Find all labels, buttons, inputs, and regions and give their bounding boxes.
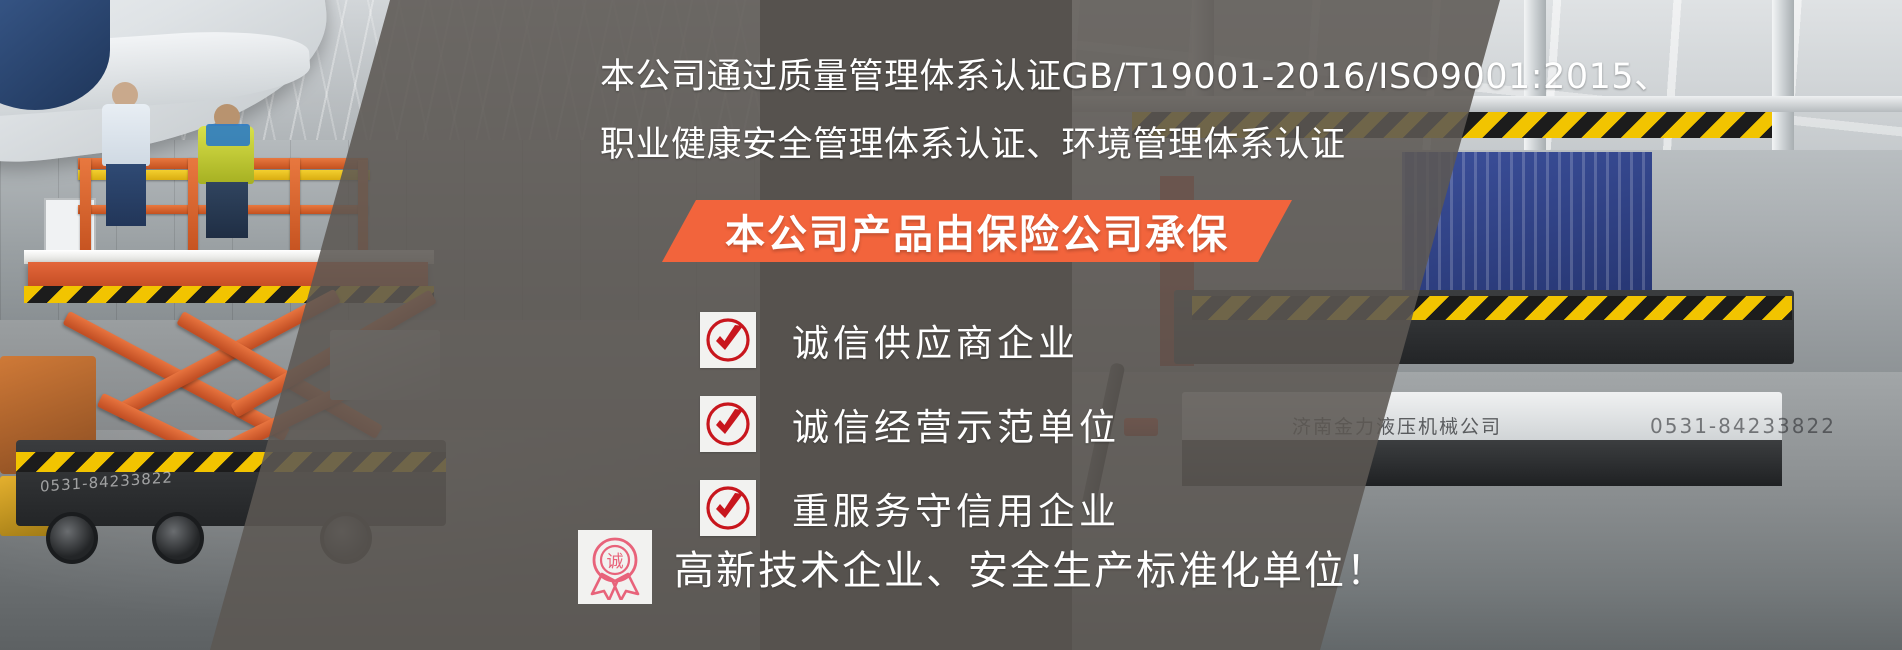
certification-checklist: 诚信供应商企业 诚信经营示范单位 重服务守信 [700,298,1120,550]
award-label: 高新技术企业、安全生产标准化单位！ [674,538,1388,596]
insurance-ribbon-text: 本公司产品由保险公司承保 [725,202,1229,260]
list-item-label: 诚信供应商企业 [792,313,1079,367]
award-row: 诚 高新技术企业、安全生产标准化单位！ [578,530,1388,604]
award-ribbon-seal-icon: 诚 [578,530,652,604]
red-check-circle-icon [700,396,756,452]
list-item-label: 重服务守信用企业 [792,481,1120,535]
award-seal-character: 诚 [607,552,624,572]
headline-line-2: 职业健康安全管理体系认证、环境管理体系认证 [600,128,1346,163]
overlay-content: 本公司通过质量管理体系认证GB/T19001-2016/ISO9001:2015… [0,0,1902,650]
list-item: 诚信供应商企业 [700,298,1120,382]
insurance-ribbon-banner: 本公司产品由保险公司承保 [662,200,1292,262]
headline-line-1: 本公司通过质量管理体系认证GB/T19001-2016/ISO9001:2015… [600,60,1670,95]
red-check-circle-icon [700,480,756,536]
red-check-circle-icon [700,312,756,368]
list-item: 诚信经营示范单位 [700,382,1120,466]
certification-banner: 0531-84233822 济南金力液压机械公司 0531-84233822 本… [0,0,1902,650]
list-item-label: 诚信经营示范单位 [792,397,1120,451]
